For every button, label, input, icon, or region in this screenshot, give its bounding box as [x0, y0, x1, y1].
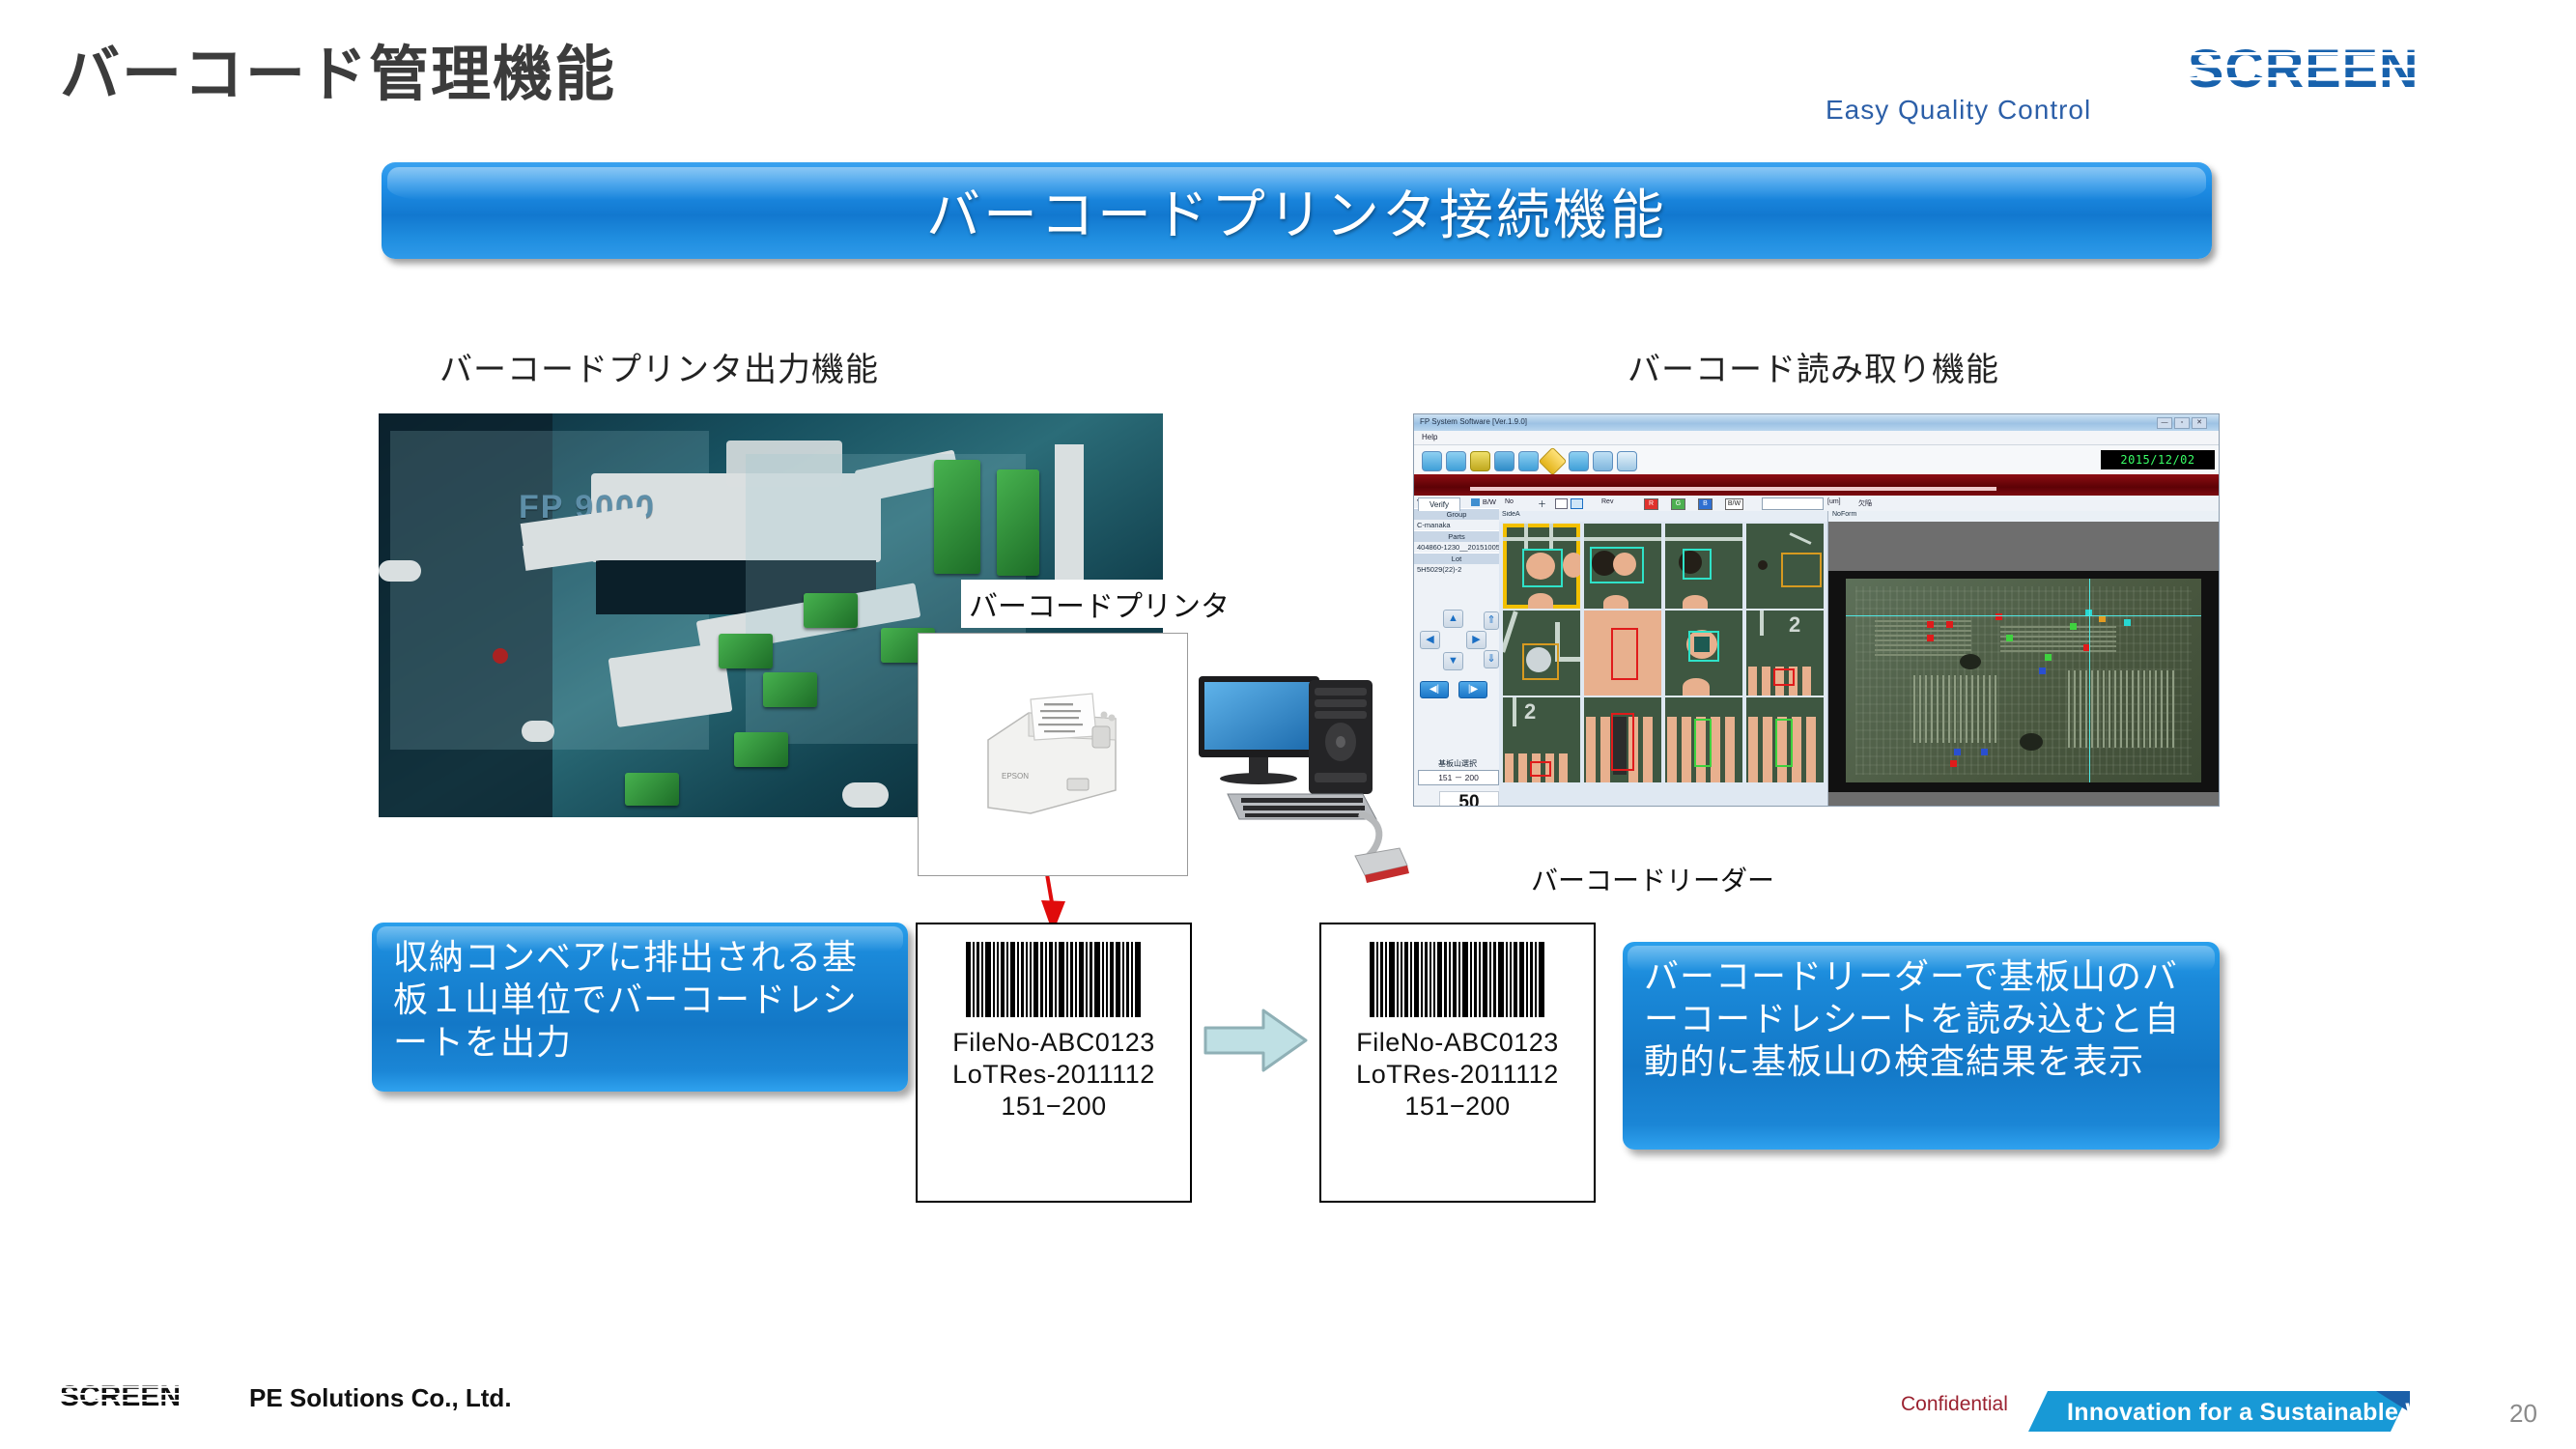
software-toolbar[interactable] — [1414, 445, 2219, 475]
printer-label: バーコードプリンタ — [961, 580, 1237, 628]
receipt-lotres: LoTRes-2011112 — [1356, 1059, 1559, 1091]
page-number: 20 — [2509, 1399, 2537, 1429]
barcode-receipt-printed: FileNo-ABC0123 LoTRes-2011112 151−200 — [916, 923, 1192, 1203]
svg-text:SCREEN: SCREEN — [60, 1380, 181, 1408]
screen-logo: SCREEN — [2188, 41, 2511, 97]
nav-down-icon[interactable]: ▼ — [1443, 652, 1463, 670]
tab-verify[interactable]: Verify — [1418, 497, 1460, 511]
receipt-lotres: LoTRes-2011112 — [952, 1059, 1155, 1091]
reader-label: バーコードリーダー — [1531, 860, 1774, 898]
software-titlebar: FP System Software [Ver.1.9.0] — ▫ ✕ — [1414, 414, 2219, 431]
inspection-software-window[interactable]: FP System Software [Ver.1.9.0] — ▫ ✕ Hel… — [1413, 413, 2220, 807]
menu-help[interactable]: Help — [1422, 433, 1437, 441]
thumbnail-cell[interactable]: 2 — [1746, 611, 1824, 696]
toolbar-save-icon[interactable] — [1446, 451, 1466, 471]
footer-tagline-text: Innovation for a Sustainable World — [2067, 1399, 2475, 1427]
rev-label: Rev — [1601, 498, 1613, 505]
filter-input[interactable] — [1762, 497, 1824, 510]
nav-up-icon[interactable]: ▲ — [1443, 610, 1463, 628]
layout-icon[interactable] — [1555, 498, 1568, 509]
nav-bottom-icon[interactable]: ⇓ — [1484, 650, 1499, 668]
minimize-button[interactable]: — — [2157, 417, 2172, 429]
software-clock: 2015/12/02 13:42 — [2101, 450, 2215, 469]
add-icon[interactable]: ＋ — [1538, 497, 1546, 510]
lot-header: Lot — [1414, 553, 1499, 564]
maximize-button[interactable]: ▫ — [2174, 417, 2190, 429]
lot-value: 5H5029(22)-2 — [1414, 564, 1499, 575]
receipt-fileno: FileNo-ABC0123 — [1356, 1027, 1559, 1059]
toolbar-refresh-icon[interactable] — [1518, 451, 1539, 471]
receipt-range: 151−200 — [1001, 1091, 1106, 1122]
close-button[interactable]: ✕ — [2192, 417, 2207, 429]
svg-text:SCREEN: SCREEN — [2188, 41, 2419, 97]
channel-g[interactable]: G — [1671, 498, 1685, 510]
next-board-button[interactable]: |▶ — [1458, 681, 1487, 698]
inspection-thumbnail-grid[interactable]: SideA — [1499, 511, 1828, 806]
thumbnail-cell[interactable] — [1503, 611, 1580, 696]
software-menubar[interactable]: Help — [1414, 431, 2219, 445]
toolbar-lamp-icon[interactable] — [1470, 451, 1490, 471]
flow-arrow-icon — [1202, 1005, 1310, 1076]
barcode-receipt-scanned: FileNo-ABC0123 LoTRes-2011112 151−200 — [1319, 923, 1596, 1203]
thumbnail-cell[interactable] — [1746, 524, 1824, 609]
nav-right-icon[interactable]: ▶ — [1466, 631, 1486, 649]
left-callout: 収納コンベアに排出される基板１山単位でバーコードレシートを出力 — [372, 923, 908, 1092]
board-overview-panel[interactable]: NoForm — [1828, 511, 2219, 806]
toolbar-warning-icon[interactable] — [1539, 447, 1568, 476]
parts-header: Parts — [1414, 530, 1499, 542]
barcode-icon — [1370, 942, 1546, 1017]
toolbar-copy-icon[interactable] — [1593, 451, 1613, 471]
barcode-icon — [966, 942, 1143, 1017]
toolbar-settings-icon[interactable] — [1569, 451, 1589, 471]
computer-and-scanner-image — [1193, 667, 1444, 889]
grid-caption: SideA — [1499, 511, 1827, 522]
channel-r[interactable]: R — [1644, 498, 1658, 510]
receipt-range: 151−200 — [1404, 1091, 1510, 1122]
board-caption: NoForm — [1828, 511, 2219, 522]
thumbnail-cell[interactable] — [1584, 611, 1661, 696]
parts-value: 404860-1230__20151005 — [1414, 542, 1499, 553]
right-callout: バーコードリーダーで基板山のバーコードレシートを読み込むと自動的に基板山の検査結… — [1623, 942, 2220, 1150]
channel-bw[interactable]: B/W — [1725, 498, 1743, 510]
bw-toggle-icon[interactable] — [1471, 498, 1480, 506]
software-window-title: FP System Software [Ver.1.9.0] — [1420, 417, 1527, 426]
footer-screen-logo: SCREEN — [60, 1379, 239, 1408]
software-filter-bar[interactable]: No ＋ Rev R G B B/W [um] 欠陥 — [1499, 496, 2219, 512]
stat-total: 50 — [1439, 791, 1499, 807]
software-status-bar — [1414, 474, 2219, 496]
thumbnail-cell[interactable] — [1584, 524, 1661, 609]
header-tagline: Easy Quality Control — [1826, 95, 2091, 126]
pcb-render — [1846, 579, 2201, 782]
thumbnail-cell[interactable] — [1665, 611, 1742, 696]
unit-label: [um] — [1827, 498, 1841, 505]
group-value: C-manaka — [1414, 520, 1499, 530]
channel-b[interactable]: B — [1698, 498, 1713, 510]
toolbar-check-icon[interactable] — [1617, 451, 1637, 471]
defect-label: 欠陥 — [1858, 498, 1872, 508]
no-label: No — [1505, 498, 1514, 505]
nav-left-icon[interactable]: ◀ — [1420, 631, 1440, 649]
receipt-fileno: FileNo-ABC0123 — [952, 1027, 1155, 1059]
toolbar-grid-icon[interactable] — [1494, 451, 1514, 471]
thumbnail-cell[interactable] — [1503, 524, 1580, 609]
right-section-label: バーコード読み取り機能 — [1628, 343, 1999, 390]
printer-brand: EPSON — [1002, 772, 1029, 781]
banner-text: バーコードプリンタ接続機能 — [926, 172, 1667, 250]
confidential-label: Confidential — [1901, 1393, 2008, 1416]
nav-top-icon[interactable]: ⇑ — [1484, 611, 1499, 630]
footer-company-name: PE Solutions Co., Ltd. — [249, 1383, 512, 1413]
thumbnail-cell[interactable] — [1746, 697, 1824, 782]
thumbnail-cell[interactable] — [1584, 697, 1661, 782]
thumbnail-cell[interactable] — [1665, 524, 1742, 609]
bw-label: B/W — [1483, 497, 1496, 506]
zoom-icon[interactable] — [1571, 498, 1583, 509]
thumbnail-cell[interactable]: 2 — [1503, 697, 1580, 782]
thermal-printer-icon: EPSON — [971, 682, 1141, 827]
thumbnail-cell[interactable] — [1665, 697, 1742, 782]
board-image[interactable] — [1828, 571, 2219, 792]
printer-image-box: EPSON — [918, 633, 1188, 876]
section-banner: バーコードプリンタ接続機能 — [382, 162, 2212, 259]
left-section-label: バーコードプリンタ出力機能 — [439, 343, 879, 390]
toolbar-open-icon[interactable] — [1422, 451, 1442, 471]
page-title: バーコード管理機能 — [60, 25, 616, 112]
